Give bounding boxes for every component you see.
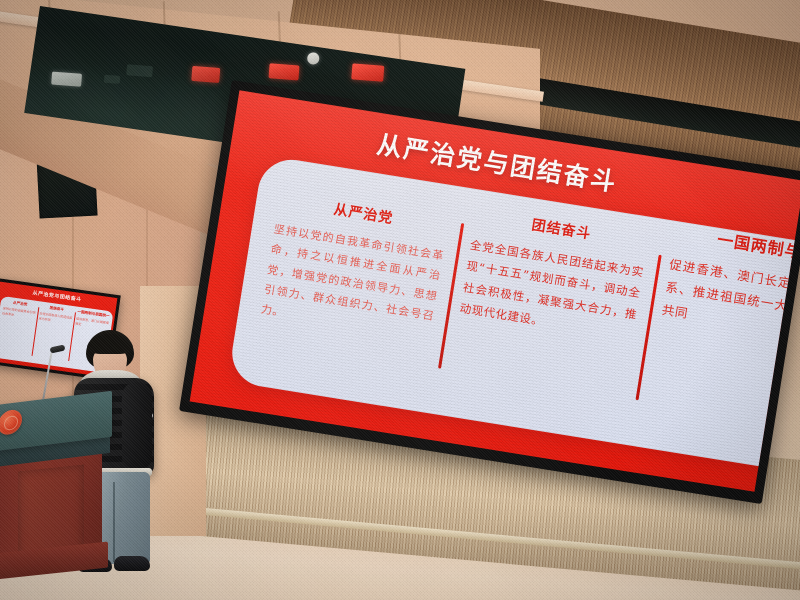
stage-light-off-icon (104, 75, 121, 84)
preview-column-3-body: 促进香港、澳门长期繁荣稳定 (75, 317, 109, 331)
stage-light-spot-icon (306, 52, 320, 66)
slide-column-2-body: 全党全国各族人民团结起来为实现“十五五”规划而奋斗，调动全社会积极性，凝聚强大合… (458, 235, 645, 347)
podium-emblem-icon (0, 407, 22, 437)
presenter-arm (122, 382, 152, 468)
stage-light-red-icon (351, 63, 384, 81)
slide-column-2: 团结奋斗 全党全国各族人民团结起来为实现“十五五”规划而奋斗，调动全社会积极性，… (433, 201, 662, 429)
auditorium-photo: 从严治党与团结奋斗 从严治党 坚持以党的自我革命引领社会革命，持之以恒推进全面从… (0, 0, 800, 600)
preview-column-2-body: 全党全国各族人民团结起来为实现 (38, 311, 72, 325)
presenter-hair-fringe (87, 334, 133, 354)
stage-light-white-icon (51, 72, 82, 87)
stage-light-off-icon (126, 64, 153, 77)
podium (0, 398, 112, 580)
slide-column-3-body: 促进香港、澳门长定，推动两岸关系、推进祖国统一大构建人类命运共同 (660, 253, 800, 354)
presenter-shoe-right (114, 556, 150, 571)
stage-light-red-icon (191, 66, 220, 83)
slide-column-1-body: 坚持以党的自我革命引领社会革命，持之以恒推进全面从严治党，增强党的政治领导力、思… (259, 220, 445, 348)
stage-light-red-icon (268, 63, 299, 80)
slide-column-1: 从严治党 坚持以党的自我革命引领社会革命，持之以恒推进全面从严治党，增强党的政治… (240, 170, 465, 397)
preview-column-1-body: 坚持以党的自我革命引领社会革命 (2, 306, 36, 320)
